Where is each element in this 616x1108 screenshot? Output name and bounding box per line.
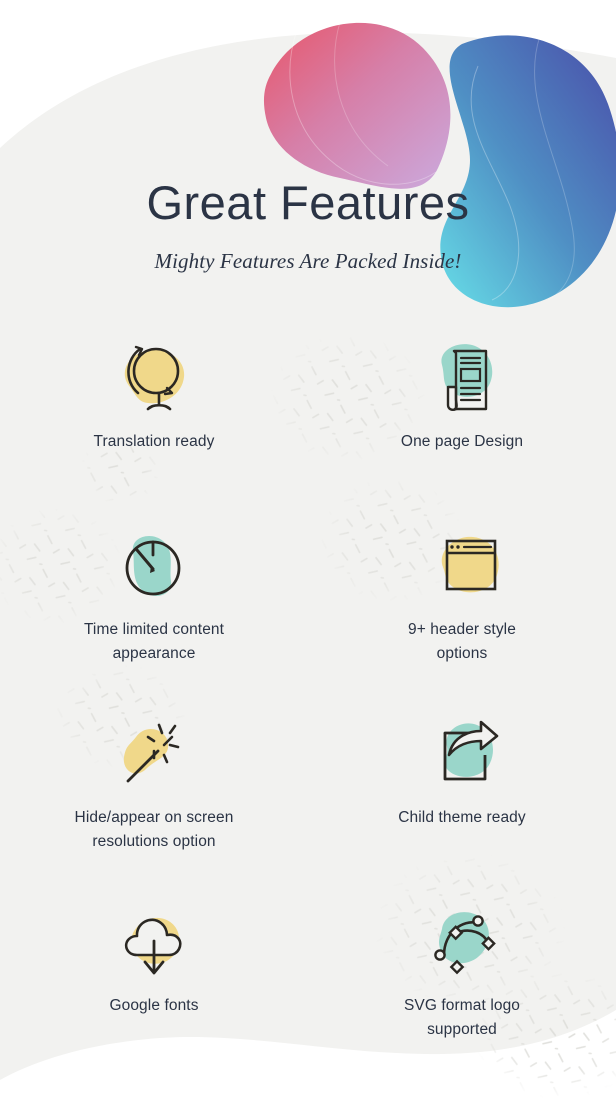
feature-label: Hide/appear on screen resolutions option: [75, 806, 234, 854]
feature-label: 9+ header style options: [408, 618, 516, 666]
feature-item[interactable]: Child theme ready: [308, 708, 616, 896]
feature-label: SVG format logo supported: [404, 994, 520, 1042]
newspaper-icon: [410, 332, 520, 424]
stopwatch-icon: [99, 520, 209, 612]
feature-item[interactable]: Google fonts: [0, 896, 308, 1084]
feature-item[interactable]: One page Design: [308, 332, 616, 520]
globe-icon: [100, 332, 210, 424]
feature-item[interactable]: Translation ready: [0, 332, 308, 520]
feature-label: Google fonts: [109, 994, 198, 1018]
share-export-icon: [411, 708, 521, 800]
vector-path-icon: [410, 896, 520, 988]
feature-label: Child theme ready: [398, 806, 526, 830]
feature-item[interactable]: Hide/appear on screen resolutions option: [0, 708, 308, 896]
feature-label: Translation ready: [94, 430, 215, 454]
page-subtitle: Mighty Features Are Packed Inside!: [0, 249, 616, 274]
feature-item[interactable]: 9+ header style options: [308, 520, 616, 708]
features-section: Great Features Mighty Features Are Packe…: [0, 0, 616, 1108]
magic-wand-icon: [100, 708, 210, 800]
feature-item[interactable]: Time limited content appearance: [0, 520, 308, 708]
cloud-download-icon: [99, 896, 209, 988]
feature-item[interactable]: SVG format logo supported: [308, 896, 616, 1084]
features-grid: Translation ready One page Design: [0, 332, 616, 1084]
feature-label: Time limited content appearance: [84, 618, 224, 666]
browser-window-icon: [415, 520, 525, 612]
header: Great Features Mighty Features Are Packe…: [0, 178, 616, 274]
feature-label: One page Design: [401, 430, 523, 454]
page-title: Great Features: [0, 178, 616, 227]
